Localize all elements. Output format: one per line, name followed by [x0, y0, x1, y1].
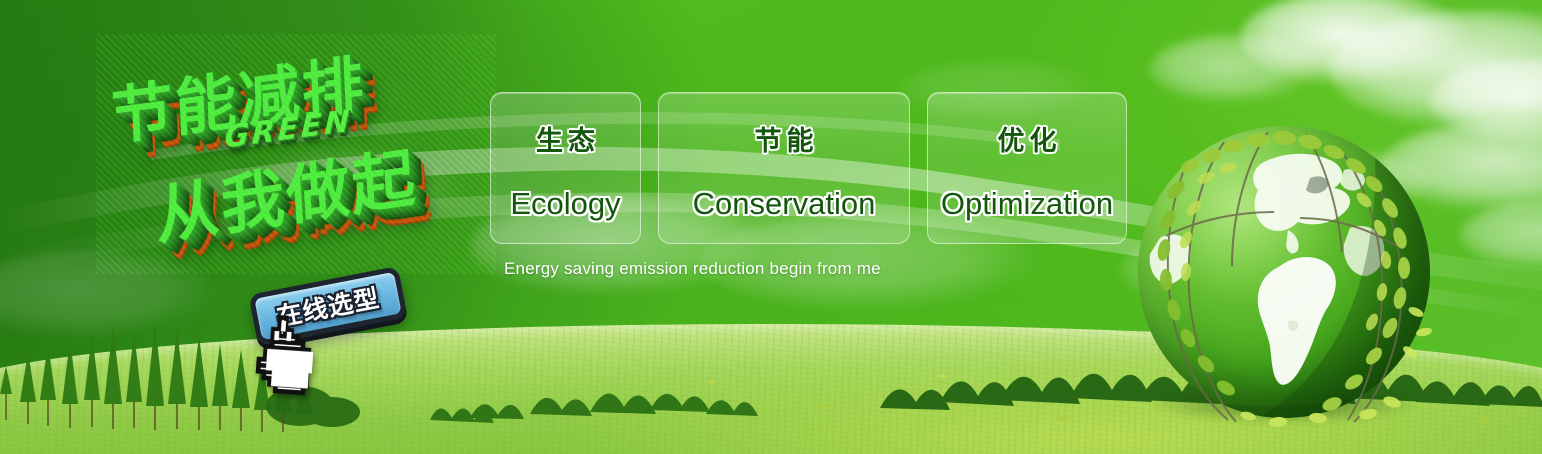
- pointing-hand-cursor-icon: [249, 309, 331, 400]
- feature-card-ecology-en: Ecology: [510, 186, 620, 222]
- headline-3d-artwork: 节能减排 GREEN 从我做起: [96, 34, 496, 274]
- feature-card-ecology-cn: 生态: [531, 119, 600, 158]
- banner-tagline: Energy saving emission reduction begin f…: [504, 259, 881, 279]
- feature-card-optimization-cn: 优化: [993, 119, 1062, 158]
- feature-card-optimization[interactable]: 优化 Optimization: [927, 92, 1127, 244]
- eco-promo-banner: 节能减排 GREEN 从我做起 在线选型 生态 Ecology 节能 Conse…: [0, 0, 1542, 454]
- green-leaf-globe-icon: [1138, 126, 1430, 418]
- feature-card-group: 生态 Ecology 节能 Conservation 优化 Optimizati…: [490, 92, 1127, 244]
- online-selection-cta[interactable]: 在线选型: [252, 276, 424, 354]
- feature-card-conservation-en: Conservation: [693, 186, 876, 222]
- feature-card-conservation-cn: 节能: [750, 119, 819, 158]
- feature-card-optimization-en: Optimization: [941, 186, 1113, 222]
- feature-card-ecology[interactable]: 生态 Ecology: [490, 92, 641, 244]
- feature-card-conservation[interactable]: 节能 Conservation: [658, 92, 910, 244]
